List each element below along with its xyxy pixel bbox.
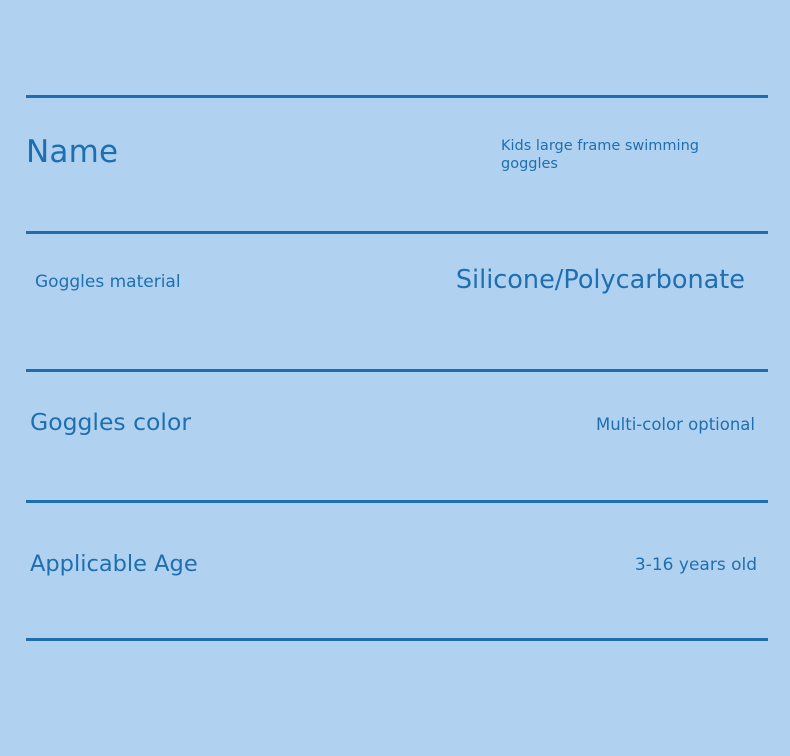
- spec-row-name: Name Kids large frame swimming goggles: [26, 99, 768, 232]
- spec-value-applicable-age: 3-16 years old: [635, 555, 757, 576]
- spec-value-goggles-color: Multi-color optional: [596, 415, 755, 436]
- spec-value-name: Kids large frame swimming goggles: [501, 137, 711, 173]
- spec-value-goggles-material: Silicone/Polycarbonate: [456, 265, 745, 297]
- spec-label-name: Name: [26, 135, 118, 171]
- spec-label-goggles-material: Goggles material: [35, 273, 181, 293]
- spec-row-goggles-color: Goggles color Multi-color optional: [26, 373, 768, 501]
- spec-row-applicable-age: Applicable Age 3-16 years old: [26, 504, 768, 639]
- spec-label-applicable-age: Applicable Age: [30, 552, 198, 578]
- spec-row-goggles-material: Goggles material Silicone/Polycarbonate: [26, 235, 768, 370]
- product-spec-sheet: Name Kids large frame swimming goggles G…: [0, 0, 790, 756]
- spec-label-goggles-color: Goggles color: [30, 409, 191, 436]
- divider-top: [26, 95, 768, 98]
